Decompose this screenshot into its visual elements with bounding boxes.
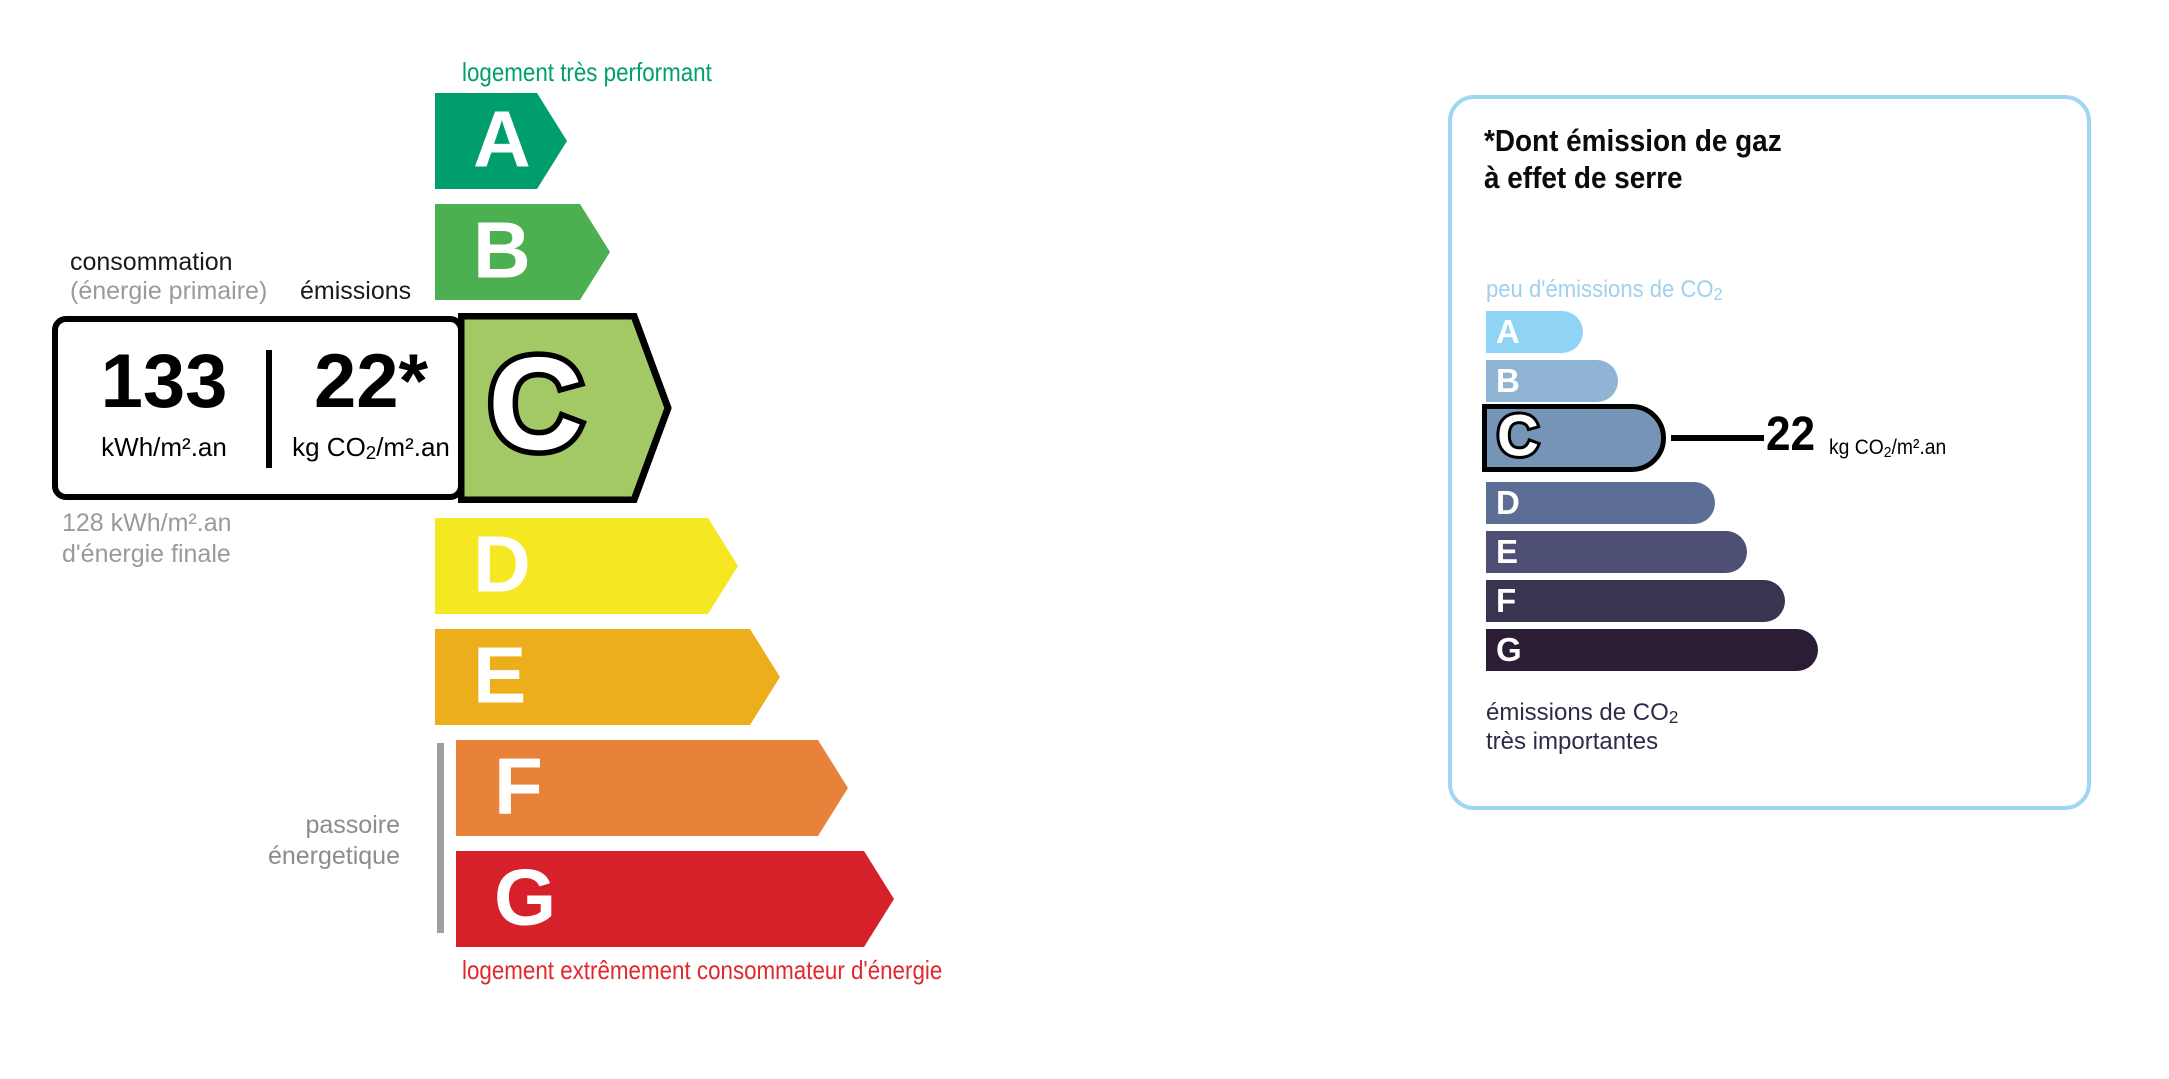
emission-unit: kg CO2/m².an	[278, 434, 464, 460]
ges-title-line1: *Dont émission de gaz	[1484, 123, 1782, 160]
passoire-bracket-bar	[437, 743, 444, 933]
ges-bar-G: G	[1486, 629, 1818, 671]
ges-top-caption-sub: 2	[1714, 284, 1723, 304]
ges-bar-letter-E: E	[1496, 535, 1518, 568]
passoire-line2: énergetique	[150, 841, 400, 872]
ges-bar-D: D	[1486, 482, 1715, 524]
passoire-line1: passoire	[150, 810, 400, 841]
ges-bottom-caption: émissions de CO2 très importantes	[1486, 699, 1678, 757]
emissions-header: émissions	[300, 277, 411, 306]
ges-value: 22	[1766, 411, 1815, 459]
ges-bottom-caption-text: émissions de CO	[1486, 699, 1669, 726]
ges-bar-F: F	[1486, 580, 1785, 622]
emission-unit-prefix: kg CO	[292, 432, 366, 462]
emission-unit-suffix: /m².an	[376, 432, 450, 462]
energy-band-letter-B: B	[473, 210, 531, 290]
energy-band-letter-D: D	[473, 524, 531, 604]
ges-bar-letter-A: A	[1496, 315, 1520, 348]
ges-top-caption: peu d'émissions de CO2	[1486, 276, 1722, 304]
ges-title-line2: à effet de serre	[1484, 160, 1782, 197]
energy-band-letter-A: A	[473, 99, 531, 179]
consumption-header-main: consommation	[70, 248, 233, 276]
energy-band-letter-E: E	[473, 635, 526, 715]
final-energy-line2: d'énergie finale	[62, 539, 232, 570]
energy-band-E: E	[435, 629, 780, 725]
passoire-energetique-label: passoire énergetique	[150, 810, 400, 871]
energy-band-G: G	[456, 851, 894, 947]
ges-panel-title: *Dont émission de gaz à effet de serre	[1484, 123, 1782, 196]
ges-bottom-caption-line2: très importantes	[1486, 728, 1678, 757]
ges-top-caption-text: peu d'émissions de CO	[1486, 276, 1714, 303]
ges-bar-letter-D: D	[1496, 486, 1520, 519]
consumption-value-group: 133 kWh/m².an	[58, 316, 270, 500]
ges-unit-sub: 2	[1884, 444, 1892, 461]
energy-scale-top-caption: logement très performant	[462, 57, 712, 88]
energy-band-letter-G: G	[494, 857, 556, 937]
energy-band-F: F	[456, 740, 848, 836]
energy-band-letter-C: C	[488, 338, 583, 470]
final-energy-line1: 128 kWh/m².an	[62, 508, 232, 539]
ges-bar-letter-F: F	[1496, 584, 1516, 617]
ges-emission-panel: *Dont émission de gaz à effet de serre p…	[1448, 95, 2091, 810]
ges-unit-suffix: /m².an	[1891, 436, 1946, 459]
ges-value-unit: kg CO2/m².an	[1829, 437, 1946, 458]
consumption-value: 133	[58, 344, 270, 420]
energy-band-C-selected: C	[458, 313, 672, 503]
ges-bar-letter-G: G	[1496, 633, 1522, 666]
ges-leader-line	[1671, 435, 1764, 441]
consumption-unit: kWh/m².an	[58, 434, 270, 460]
energy-band-D: D	[435, 518, 738, 614]
energy-scale-bottom-caption: logement extrêmement consommateur d'éner…	[462, 955, 942, 986]
energy-band-A: A	[435, 93, 567, 189]
emission-value: 22*	[278, 344, 464, 420]
energy-band-letter-F: F	[494, 746, 543, 826]
ges-bar-letter-B: B	[1496, 364, 1520, 397]
ges-unit-prefix: kg CO	[1829, 436, 1884, 459]
energy-performance-scale: logement très performant A B C D E	[0, 0, 1400, 1079]
ges-bar-letter-C: C	[1497, 407, 1539, 465]
emission-value-group: 22* kg CO2/m².an	[278, 316, 464, 500]
ges-bar-E: E	[1486, 531, 1747, 573]
emission-unit-sub: 2	[366, 442, 376, 463]
ges-bar-C-selected: C	[1482, 404, 1666, 472]
ges-bottom-caption-sub: 2	[1669, 707, 1679, 727]
ges-bar-A: A	[1486, 311, 1583, 353]
ges-bar-B: B	[1486, 360, 1618, 402]
final-energy-note: 128 kWh/m².an d'énergie finale	[62, 508, 232, 569]
ges-bottom-caption-line1: émissions de CO2	[1486, 699, 1678, 728]
